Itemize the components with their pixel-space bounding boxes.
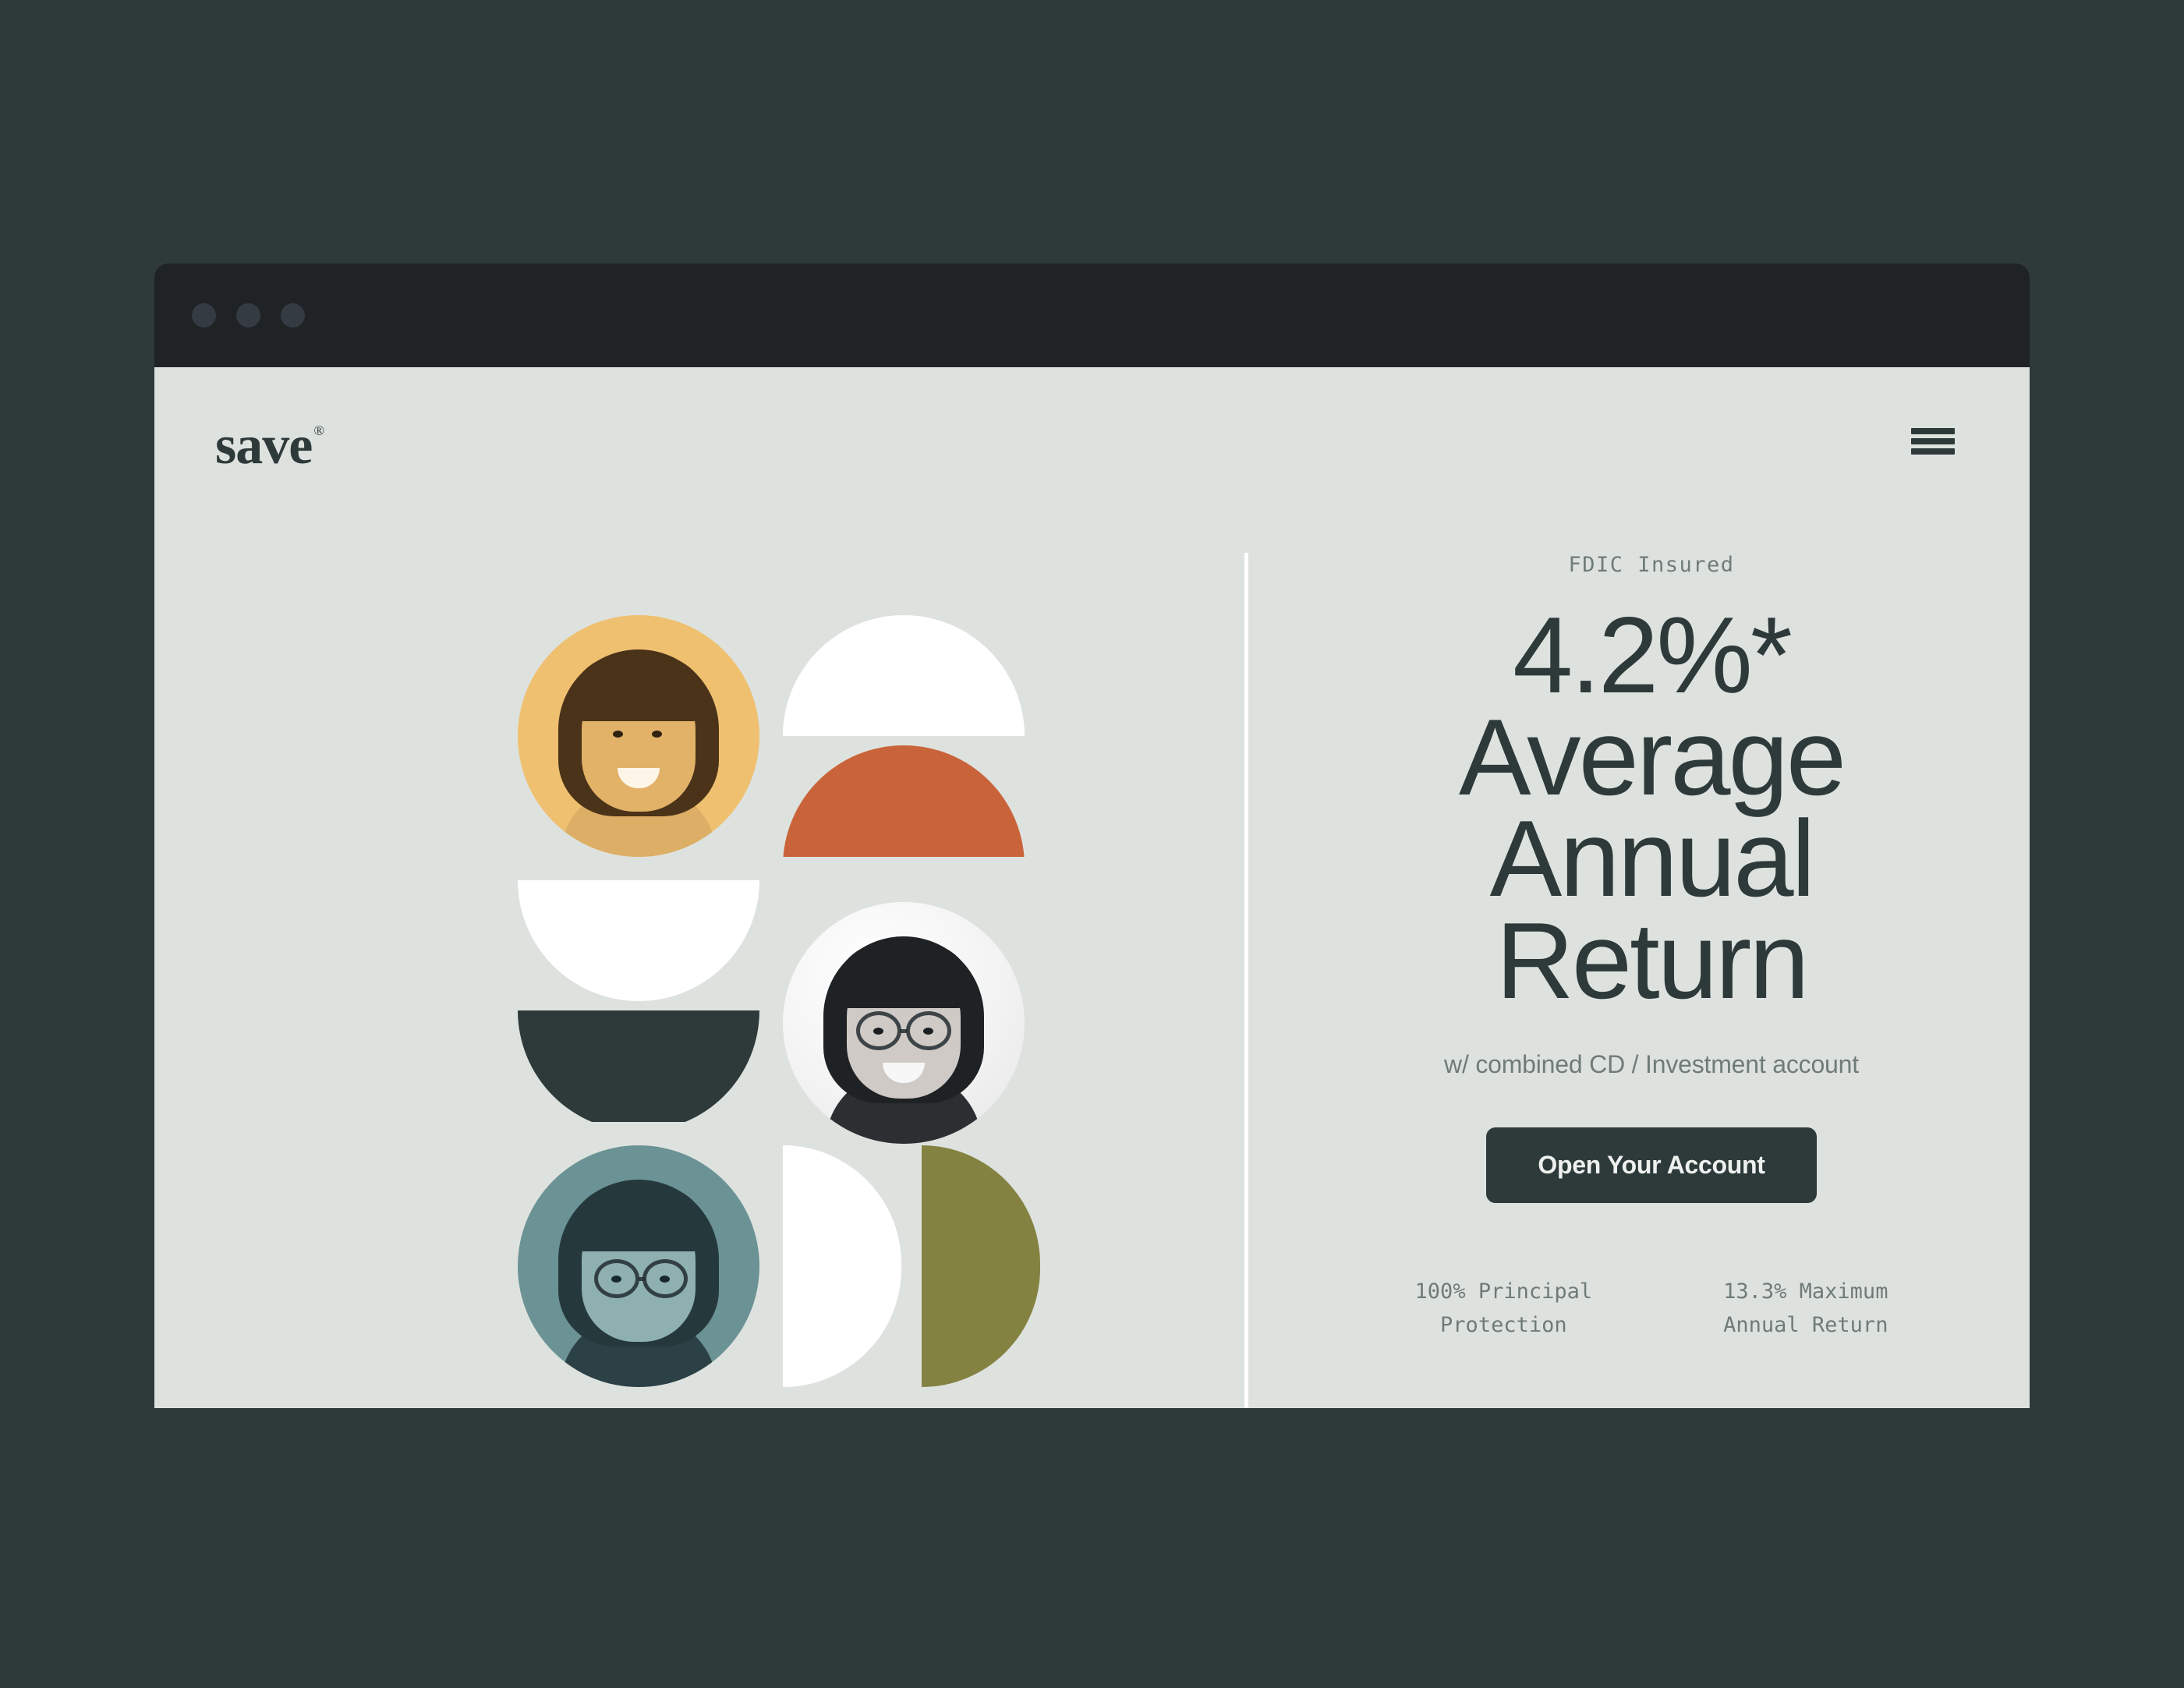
hero-collage xyxy=(518,615,1025,1387)
shape-orange-dome xyxy=(783,745,1025,857)
shape-olive-right-half xyxy=(922,1145,1040,1387)
vertical-divider xyxy=(1244,553,1248,1408)
hamburger-icon[interactable] xyxy=(1911,426,1955,457)
avatar-eye-right xyxy=(660,1276,670,1283)
stat-principal-line-1: 100% Principal xyxy=(1415,1275,1593,1308)
avatar-eye-left xyxy=(873,1028,883,1035)
minimize-dot[interactable] xyxy=(236,303,260,327)
shape-stack-row3 xyxy=(783,1145,1040,1387)
avatar-fringe xyxy=(569,1186,708,1251)
maximize-dot[interactable] xyxy=(281,303,305,327)
hamburger-bar-2 xyxy=(1911,438,1955,444)
registered-trademark-icon: ® xyxy=(313,423,324,438)
portrait-woman-teal xyxy=(518,1145,759,1387)
browser-window: save® xyxy=(154,264,2030,1408)
stat-maximum-return: 13.3% Maximum Annual Return xyxy=(1723,1275,1888,1342)
headline-line-4: Return xyxy=(1293,911,2010,1013)
avatar-eye-left xyxy=(613,731,623,738)
shape-dark-bowl xyxy=(518,1010,759,1122)
shape-white-dome xyxy=(783,615,1025,736)
avatar-fringe xyxy=(834,943,973,1008)
close-dot[interactable] xyxy=(192,303,216,327)
open-account-button[interactable]: Open Your Account xyxy=(1486,1127,1816,1203)
avatar-eye-left xyxy=(611,1276,621,1283)
headline-line-2: Average xyxy=(1293,707,2010,809)
hamburger-bar-1 xyxy=(1911,428,1955,434)
avatar-fringe xyxy=(569,656,708,721)
shape-white-bowl xyxy=(518,880,759,1001)
page-title: 4.2%* Average Annual Return xyxy=(1293,605,2010,1013)
shape-white-right-half xyxy=(783,1145,901,1387)
fdic-eyebrow: FDIC Insured xyxy=(1293,553,2010,577)
headline-line-3: Annual xyxy=(1293,809,2010,911)
logo-text: save xyxy=(215,416,312,476)
portrait-woman-amber xyxy=(518,615,759,857)
hero-content: FDIC Insured 4.2%* Average Annual Return… xyxy=(1293,553,2010,1342)
avatar-glasses-bridge xyxy=(900,1029,908,1033)
stat-principal-line-2: Protection xyxy=(1415,1308,1593,1342)
shape-stack-row2 xyxy=(518,880,759,1122)
avatar xyxy=(518,1145,759,1387)
hamburger-bar-3 xyxy=(1911,448,1955,455)
site-header: save® xyxy=(154,367,2030,515)
page-viewport: save® xyxy=(154,367,2030,1408)
stat-maximum-line-1: 13.3% Maximum xyxy=(1723,1275,1888,1308)
brand-logo[interactable]: save® xyxy=(215,419,322,473)
stat-principal-protection: 100% Principal Protection xyxy=(1415,1275,1593,1342)
avatar xyxy=(518,615,759,857)
avatar-eye-right xyxy=(923,1028,933,1035)
headline-line-1: 4.2%* xyxy=(1293,605,2010,707)
hero-subhead: w/ combined CD / Investment account xyxy=(1293,1050,2010,1079)
hero-stats: 100% Principal Protection 13.3% Maximum … xyxy=(1293,1275,2010,1342)
stat-maximum-line-2: Annual Return xyxy=(1723,1308,1888,1342)
avatar-eye-right xyxy=(652,731,662,738)
avatar xyxy=(783,902,1025,1144)
browser-titlebar xyxy=(154,264,2030,367)
portrait-man-white xyxy=(783,902,1025,1144)
shape-stack-row1 xyxy=(783,615,1025,857)
avatar-glasses-bridge xyxy=(638,1277,646,1281)
